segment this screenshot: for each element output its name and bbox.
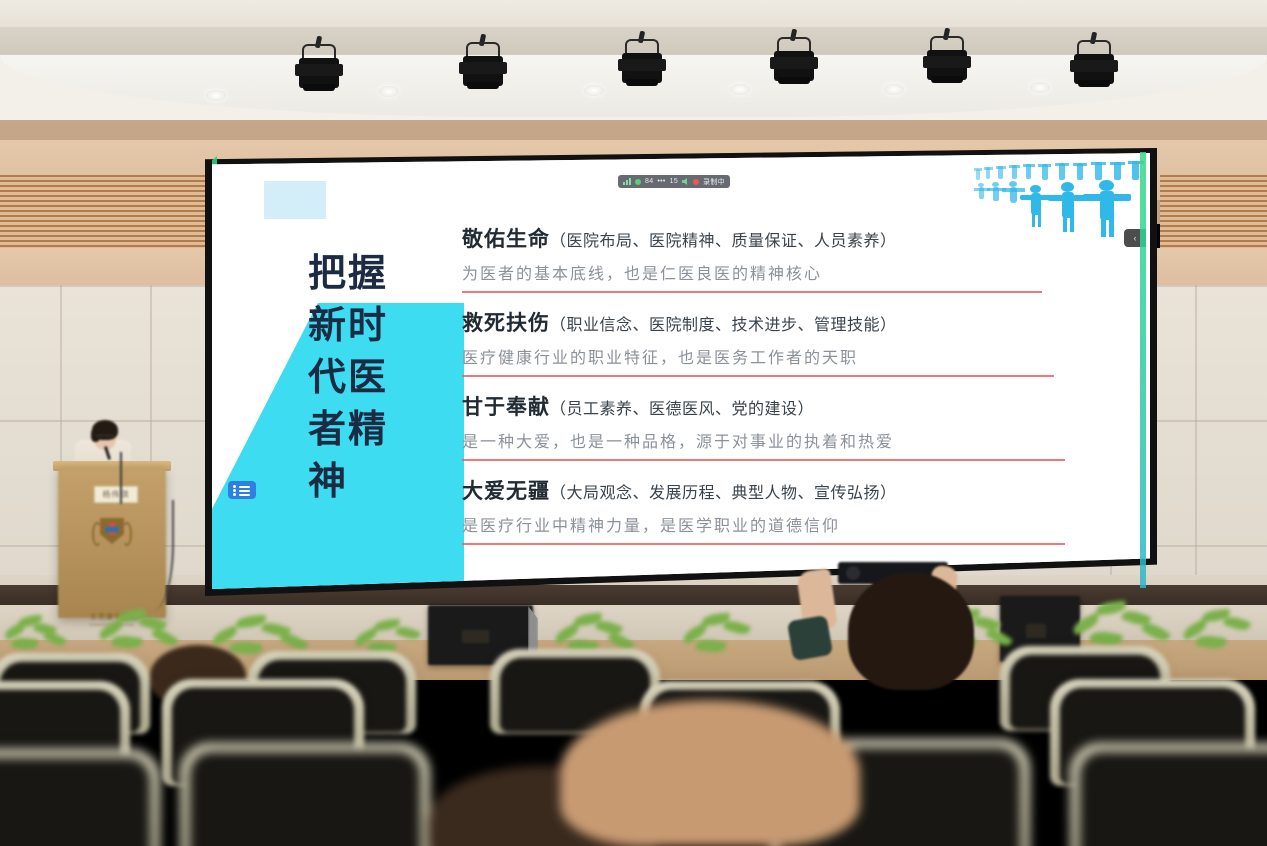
ceiling-band — [0, 0, 1267, 30]
section-underline — [462, 543, 1065, 545]
wall-panel-right-lower — [1155, 248, 1267, 290]
content-section: 甘于奉献（员工素养、医德医风、党的建设） 是一种大爱，也是一种品格，源于对事业的… — [462, 391, 1042, 461]
presenter-name: 杨伟琪 — [95, 487, 137, 502]
status-ellipsis: ••• — [657, 178, 665, 185]
seat — [0, 758, 150, 846]
section-subtitle: 是一种大爱，也是一种品格，源于对事业的执着和热爱 — [462, 428, 1042, 452]
section-heading: 大爱无疆（大局观念、发展历程、典型人物、宣传弘扬） — [462, 475, 1042, 505]
downlight — [730, 84, 750, 95]
section-underline — [462, 291, 1042, 293]
wall-panel-left-lower — [0, 248, 215, 290]
tile-seam-v3 — [1195, 285, 1197, 615]
section-keyword: 大爱无疆 — [462, 480, 550, 503]
section-heading: 敬佑生命（医院布局、医院精神、质量保证、人员素养） — [462, 223, 1042, 253]
plant — [1180, 608, 1267, 664]
seat — [1080, 752, 1267, 846]
downlight — [206, 90, 226, 101]
section-keyword: 救死扶伤 — [462, 312, 550, 335]
content-section: 敬佑生命（医院布局、医院精神、质量保证、人员素养） 为医者的基本底线，也是仁医良… — [462, 223, 1042, 293]
title-line-1: 把握 — [308, 248, 428, 300]
section-subtitle: 为医者的基本底线，也是仁医良医的精神核心 — [462, 260, 1042, 284]
downlight — [584, 85, 604, 96]
stage-spotlight — [925, 28, 969, 88]
stage-spotlight — [297, 36, 341, 96]
battery-level: 84 — [645, 178, 653, 185]
wall-slats-left — [0, 175, 215, 255]
section-subtitle: 医疗健康行业的职业特征，也是医务工作者的天职 — [462, 344, 1042, 368]
led-screen[interactable]: 84 ••• 15 录制中 — [212, 153, 1150, 589]
downlight — [1030, 82, 1050, 93]
seat — [190, 752, 420, 846]
section-underline — [462, 459, 1065, 461]
section-heading: 救死扶伤（职业信念、医院制度、技术进步、管理技能） — [462, 307, 1042, 337]
section-paren: （员工素养、医德医风、党的建设） — [550, 401, 814, 418]
wall-slats-right — [1160, 175, 1267, 255]
microphone-stand — [120, 452, 122, 504]
sleeve — [787, 615, 833, 661]
section-paren: （职业信念、医院制度、技术进步、管理技能） — [550, 317, 897, 334]
screen-edge-right — [1140, 152, 1146, 588]
presentation-slide[interactable]: 84 ••• 15 录制中 — [212, 153, 1150, 589]
title-line-2: 新时 — [308, 300, 428, 352]
audience-head — [848, 572, 974, 690]
content-section: 大爱无疆（大局观念、发展历程、典型人物、宣传弘扬） 是医疗行业中精神力量，是医学… — [462, 475, 1042, 545]
phone-camera-icon — [846, 566, 860, 580]
section-underline — [462, 375, 1054, 377]
downlight — [884, 84, 904, 95]
section-paren: （大局观念、发展历程、典型人物、宣传弘扬） — [550, 485, 897, 502]
section-keyword: 敬佑生命 — [462, 228, 550, 251]
speaker-icon — [682, 178, 689, 185]
stage-spotlight — [1072, 32, 1116, 92]
recording-status-bar: 84 ••• 15 录制中 — [618, 175, 730, 188]
stage-spotlight — [772, 29, 816, 89]
title-line-3: 代医 — [308, 352, 428, 404]
signal-icon — [623, 178, 631, 185]
presenter-nameplate: 杨伟琪 — [94, 486, 138, 503]
light-blue-block — [264, 181, 326, 219]
slide-content: 敬佑生命（医院布局、医院精神、质量保证、人员素养） 为医者的基本底线，也是仁医良… — [462, 223, 1042, 559]
auditorium-scene: 84 ••• 15 录制中 — [0, 0, 1267, 846]
stage-spotlight — [461, 34, 505, 94]
audience-head — [560, 700, 860, 846]
stage-spotlight — [620, 31, 664, 91]
title-line-4: 者精 — [308, 404, 428, 456]
slide-title: 把握 新时 代医 者精 神 — [308, 248, 428, 508]
section-keyword: 甘于奉献 — [462, 396, 550, 419]
downlight — [379, 86, 399, 97]
list-menu-icon[interactable] — [228, 481, 256, 499]
clock-time: 15 — [670, 178, 678, 185]
presenter-glasses — [96, 435, 114, 439]
recording-label: 录制中 — [703, 177, 725, 187]
section-paren: （医院布局、医院精神、质量保证、人员素养） — [550, 233, 897, 250]
plant — [680, 612, 776, 668]
content-section: 救死扶伤（职业信念、医院制度、技术进步、管理技能） 医疗健康行业的职业特征，也是… — [462, 307, 1042, 377]
section-subtitle: 是医疗行业中精神力量，是医学职业的道德信仰 — [462, 512, 1042, 536]
title-line-5: 神 — [308, 456, 428, 508]
section-heading: 甘于奉献（员工素养、医德医风、党的建设） — [462, 391, 1042, 421]
recording-dot — [693, 179, 699, 185]
status-dot-green — [635, 179, 641, 185]
hospital-crest-icon: 东莞康华医院 KANGHUA HOSPITAL — [88, 516, 136, 562]
